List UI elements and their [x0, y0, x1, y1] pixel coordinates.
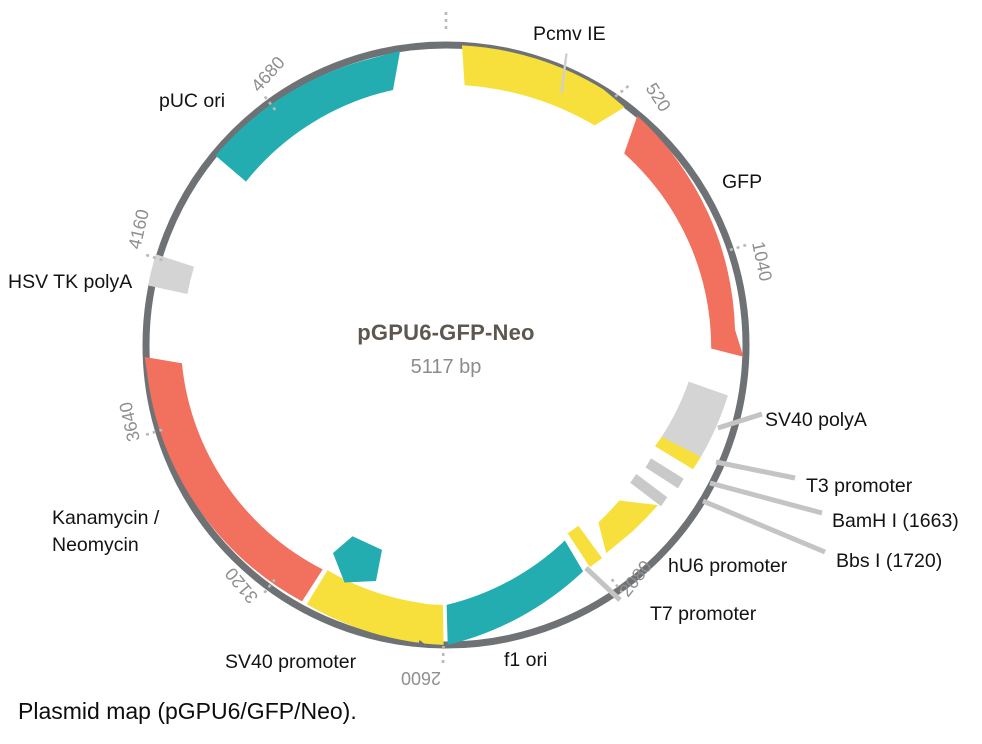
restriction-site-bbsi[interactable]	[630, 474, 667, 506]
label-f1-ori: f1 ori	[504, 649, 547, 671]
label-t3-promoter: T3 promoter	[806, 475, 913, 497]
plasmid-circle-svg: 520 1040 2080 2600 3120 3640 4160 4680 P…	[0, 0, 982, 690]
leader-t3-promoter	[716, 462, 795, 478]
tick-label-4680: 4680	[247, 53, 289, 96]
unlabeled-pentagon-marker[interactable]	[333, 536, 382, 582]
plasmid-map-figure: 520 1040 2080 2600 3120 3640 4160 4680 P…	[0, 0, 982, 690]
feature-f1-ori[interactable]	[447, 541, 583, 645]
label-sv40-promoter: SV40 promoter	[225, 651, 357, 673]
label-pcmv-ie: Pcmv IE	[533, 23, 606, 45]
label-gfp: GFP	[722, 171, 762, 193]
tick-label-1040: 1040	[748, 240, 776, 283]
label-bamhi: BamH I (1663)	[832, 510, 959, 532]
tick-520	[614, 86, 628, 97]
feature-unlabeled-pentagon[interactable]	[333, 536, 382, 582]
restriction-site-bamhi[interactable]	[646, 458, 684, 488]
tick-label-520: 520	[642, 79, 675, 115]
puc-ori-arc[interactable]	[216, 51, 401, 182]
feature-kan-neo[interactable]	[145, 357, 323, 601]
plasmid-length: 5117 bp	[411, 356, 482, 378]
feature-puc-ori[interactable]	[216, 51, 401, 182]
label-kan-neo-line2: Neomycin	[52, 534, 139, 556]
bamhi-tick[interactable]	[646, 458, 684, 488]
label-kan-neo-line1: Kanamycin /	[52, 507, 160, 529]
leader-t7-promoter	[586, 568, 620, 600]
bbsi-tick[interactable]	[630, 474, 667, 506]
feature-hu6-promoter[interactable]	[598, 501, 658, 554]
center-text-group: pGPU6-GFP-Neo 5117 bp	[357, 320, 534, 378]
plasmid-name: pGPU6-GFP-Neo	[357, 320, 534, 345]
label-hu6-promoter: hU6 promoter	[668, 555, 788, 577]
tick-label-3640: 3640	[115, 400, 143, 444]
label-puc-ori: pUC ori	[159, 90, 225, 112]
f1-ori-arc[interactable]	[447, 541, 583, 645]
label-t7-promoter: T7 promoter	[650, 603, 757, 625]
label-hsv-tk-polya: HSV TK polyA	[8, 271, 132, 293]
tick-label-4160: 4160	[124, 207, 152, 251]
label-sv40-polya: SV40 polyA	[765, 409, 867, 431]
feature-labels: Pcmv IE GFP SV40 polyA T3 promoter BamH …	[8, 23, 959, 673]
figure-caption: Plasmid map (pGPU6/GFP/Neo).	[18, 698, 357, 725]
tick-2600	[443, 645, 444, 663]
hu6-promoter-arc[interactable]	[598, 501, 658, 554]
label-bbsi: Bbs I (1720)	[836, 550, 942, 572]
tick-label-2600: 2600	[401, 668, 441, 688]
kan-neo-arc[interactable]	[145, 357, 323, 601]
